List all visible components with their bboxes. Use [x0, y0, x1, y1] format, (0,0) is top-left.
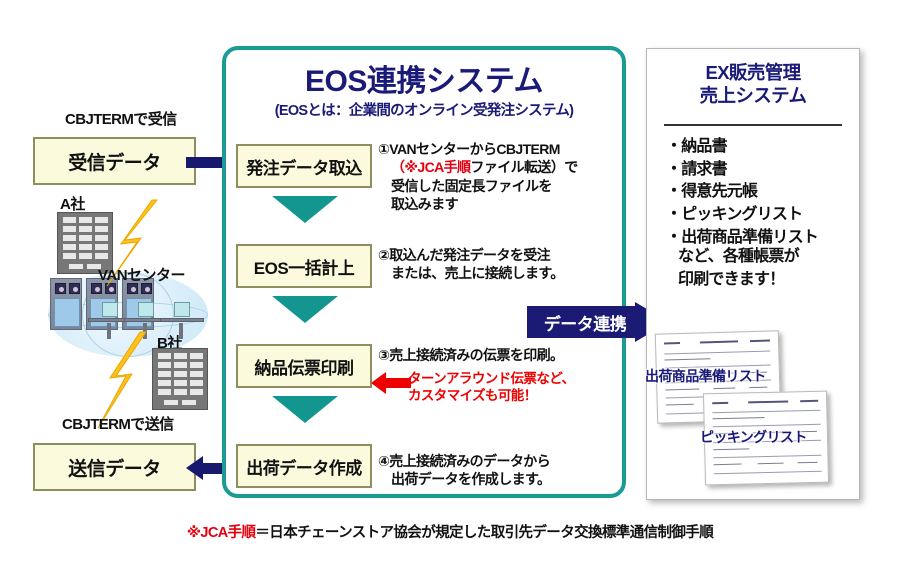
step-1-line-3: 受信した固定長ファイルを [378, 177, 628, 195]
step-2-description: ②取込んだ発注データを受注 または、売上に接続します。 [378, 246, 628, 283]
list-item: ・ピッキングリスト [666, 204, 856, 227]
ex-sales-system-title: EX販売管理 売上システム [646, 62, 860, 107]
ex-title-line-2: 売上システム [700, 85, 807, 106]
step-4-line-1: ④売上接続済みのデータから [378, 453, 550, 469]
data-link-label: データ連携 [527, 306, 643, 338]
step-4-line-2: 出荷データを作成します。 [378, 470, 628, 488]
process-box-shipping-data-create[interactable]: 出荷データ作成 [236, 444, 372, 488]
customize-callout-arrow-icon [371, 372, 411, 394]
footnote-definition: ＝日本チェーンストア協会が規定した取引先データ交換標準通信制御手順 [255, 525, 713, 541]
step-2-line-2: または、売上に接続します。 [378, 264, 628, 282]
flow-arrow-3-icon [272, 396, 338, 423]
list-item: ・請求書 [666, 159, 856, 182]
van-center-label: VANセンター [98, 264, 185, 285]
customize-callout: ターンアラウンド伝票など、 カスタマイズも可能！ [408, 371, 574, 405]
page-title: EOS連携システム [222, 56, 626, 100]
jca-term-highlight: （※JCA手順 [391, 159, 470, 175]
receive-data-box: 受信データ [33, 137, 196, 185]
flow-arrow-2-icon [272, 296, 338, 323]
ex-title-line-1: EX販売管理 [705, 62, 800, 83]
footnote: ※JCA手順＝日本チェーンストア協会が規定した取引先データ交換標準通信制御手順 [0, 521, 900, 542]
step-3-line-1: ③売上接続済みの伝票を印刷。 [378, 347, 563, 363]
step-1-line-1: ①VANセンターからCBJTERM [378, 141, 560, 157]
step-4-description: ④売上接続済みのデータから 出荷データを作成します。 [378, 452, 628, 489]
process-box-eos-batch[interactable]: EOS一括計上 [236, 244, 372, 288]
footnote-term: ※JCA手順 [187, 525, 256, 541]
picking-list-label: ピッキングリスト [700, 427, 807, 447]
process-box-delivery-slip-print[interactable]: 納品伝票印刷 [236, 344, 372, 388]
list-item: ・納品書 [666, 136, 856, 159]
step-1-line-2-rest: ファイル転送）で [470, 159, 577, 175]
step-2-line-1: ②取込んだ発注データを受注 [378, 247, 550, 263]
report-list: ・納品書 ・請求書 ・得意先元帳 ・ピッキングリスト ・出荷商品準備リスト [666, 136, 856, 250]
receive-label: CBJTERMで受信 [65, 108, 177, 129]
callout-line-2: カスタマイズも可能！ [408, 388, 537, 403]
send-label: CBJTERMで送信 [62, 413, 174, 434]
step-1-description: ①VANセンターからCBJTERM （※JCA手順ファイル転送）で 受信した固定… [378, 140, 628, 214]
step-3-description: ③売上接続済みの伝票を印刷。 [378, 346, 628, 364]
process-box-order-import[interactable]: 発注データ取込 [236, 144, 372, 188]
list-item: ・得意先元帳 [666, 181, 856, 204]
step-1-line-4: 取込みます [378, 195, 628, 213]
company-b-building-icon [152, 348, 208, 410]
note-line-2: 印刷できます！ [678, 271, 784, 288]
page-subtitle: (EOSとは：企業間のオンライン受発注システム) [222, 99, 626, 120]
company-a-label: A社 [60, 193, 85, 214]
diagram-canvas: CBJTERMで受信 受信データ A社 VANセンター [0, 0, 900, 566]
note-line-1: など、各種帳票が [678, 248, 799, 265]
flow-arrow-1-icon [272, 196, 338, 223]
callout-line-1: ターンアラウンド伝票など、 [408, 371, 574, 386]
title-divider [664, 124, 842, 126]
shipping-prep-list-label: 出荷商品準備リスト [645, 366, 766, 386]
send-data-box: 送信データ [33, 443, 196, 491]
step-1-line-2: （※JCA手順ファイル転送）で [378, 158, 628, 176]
report-list-note: など、各種帳票が 印刷できます！ [678, 246, 863, 291]
